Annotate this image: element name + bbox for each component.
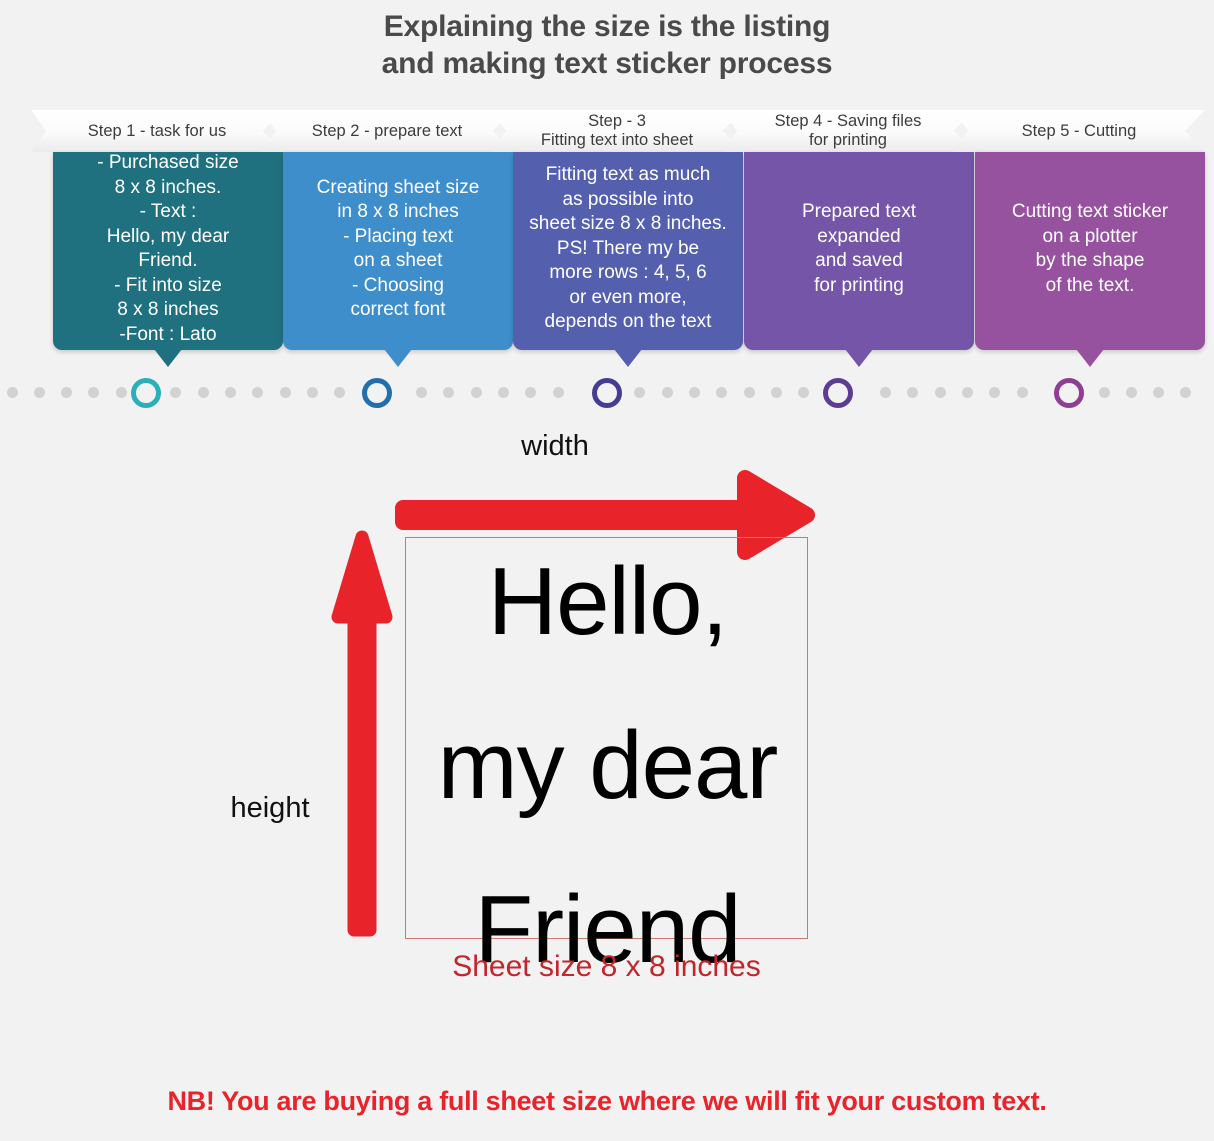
step-5-tab-label: Step 5 - Cutting [1022, 122, 1137, 141]
timeline-dot [1126, 387, 1137, 398]
sheet-sample-text: Hello, my dear Friend [396, 520, 819, 1012]
timeline-dot [116, 387, 127, 398]
step-4-tab-label: Step 4 - Saving files for printing [775, 112, 922, 150]
timeline-dot [989, 387, 1000, 398]
height-arrow-icon [330, 525, 394, 945]
step-4-body: Prepared text expanded and saved for pri… [744, 152, 974, 350]
timeline-dot [935, 387, 946, 398]
step-card-3[interactable]: Step - 3 Fitting text into sheet Fitting… [513, 110, 743, 360]
timeline-dot [553, 387, 564, 398]
timeline-dot [1153, 387, 1164, 398]
step-card-5[interactable]: Step 5 - Cutting Cutting text sticker on… [975, 110, 1205, 360]
page-title-line-2: and making text sticker process [0, 45, 1214, 82]
timeline-dot [225, 387, 236, 398]
timeline-marker-step-2[interactable] [362, 378, 392, 408]
timeline-dot [252, 387, 263, 398]
timeline-dot [689, 387, 700, 398]
step-4-tab: Step 4 - Saving files for printing [722, 110, 974, 152]
step-card-4[interactable]: Step 4 - Saving files for printing Prepa… [744, 110, 974, 360]
step-4-pointer [845, 349, 873, 367]
step-2-body-text: Creating sheet size in 8 x 8 inches - Pl… [317, 176, 480, 323]
size-diagram: width height Hello, my dear Friend Sheet… [0, 420, 1214, 1020]
timeline-dot [443, 387, 454, 398]
step-5-tab: Step 5 - Cutting [953, 110, 1205, 152]
step-3-body-text: Fitting text as much as possible into sh… [529, 163, 727, 335]
timeline-dot [34, 387, 45, 398]
width-label: width [455, 430, 655, 463]
steps-row: Step 1 - task for us - Purchased size 8 … [0, 110, 1214, 360]
timeline-marker-step-5[interactable] [1054, 378, 1084, 408]
timeline-dot [744, 387, 755, 398]
step-3-pointer [614, 349, 642, 367]
timeline-dot [771, 387, 782, 398]
height-label: height [205, 792, 335, 825]
step-1-tab: Step 1 - task for us [31, 110, 283, 152]
timeline-dot [1180, 387, 1191, 398]
timeline-dot [1017, 387, 1028, 398]
timeline-dot [498, 387, 509, 398]
timeline-dot [7, 387, 18, 398]
timeline-dot [662, 387, 673, 398]
step-2-tab: Step 2 - prepare text [261, 110, 513, 152]
timeline-marker-step-1[interactable] [131, 378, 161, 408]
timeline-dot [307, 387, 318, 398]
page-title-line-1: Explaining the size is the listing [0, 8, 1214, 45]
step-1-body: - Purchased size 8 x 8 inches. - Text : … [53, 152, 283, 350]
sheet-size-caption: Sheet size 8 x 8 inches [405, 950, 808, 984]
timeline-dot [170, 387, 181, 398]
step-5-body-text: Cutting text sticker on a plotter by the… [1012, 200, 1168, 298]
timeline-marker-step-4[interactable] [823, 378, 853, 408]
step-2-tab-label: Step 2 - prepare text [312, 122, 462, 141]
step-card-2[interactable]: Step 2 - prepare text Creating sheet siz… [283, 110, 513, 360]
step-5-body: Cutting text sticker on a plotter by the… [975, 152, 1205, 350]
timeline-dot [716, 387, 727, 398]
timeline [0, 378, 1214, 410]
step-1-tab-label: Step 1 - task for us [88, 122, 226, 141]
step-3-tab: Step - 3 Fitting text into sheet [491, 110, 743, 152]
timeline-dot [634, 387, 645, 398]
step-card-1[interactable]: Step 1 - task for us - Purchased size 8 … [53, 110, 283, 360]
timeline-dot [1099, 387, 1110, 398]
timeline-dot [198, 387, 209, 398]
timeline-marker-step-3[interactable] [592, 378, 622, 408]
footer-note: NB! You are buying a full sheet size whe… [0, 1086, 1214, 1117]
timeline-dot [798, 387, 809, 398]
timeline-dot [61, 387, 72, 398]
timeline-dot [88, 387, 99, 398]
timeline-dot [880, 387, 891, 398]
step-3-tab-label: Step - 3 Fitting text into sheet [541, 112, 693, 150]
timeline-dot [471, 387, 482, 398]
step-2-pointer [384, 349, 412, 367]
step-2-body: Creating sheet size in 8 x 8 inches - Pl… [283, 152, 513, 350]
timeline-dot [416, 387, 427, 398]
page-title: Explaining the size is the listing and m… [0, 8, 1214, 82]
step-1-body-text: - Purchased size 8 x 8 inches. - Text : … [97, 151, 239, 347]
timeline-dot [280, 387, 291, 398]
timeline-dot [334, 387, 345, 398]
step-4-body-text: Prepared text expanded and saved for pri… [802, 200, 916, 298]
sheet-box: Hello, my dear Friend [405, 537, 808, 939]
timeline-dot [907, 387, 918, 398]
step-1-pointer [154, 349, 182, 367]
step-5-pointer [1076, 349, 1104, 367]
timeline-dot [962, 387, 973, 398]
step-3-body: Fitting text as much as possible into sh… [513, 152, 743, 350]
timeline-dot [525, 387, 536, 398]
